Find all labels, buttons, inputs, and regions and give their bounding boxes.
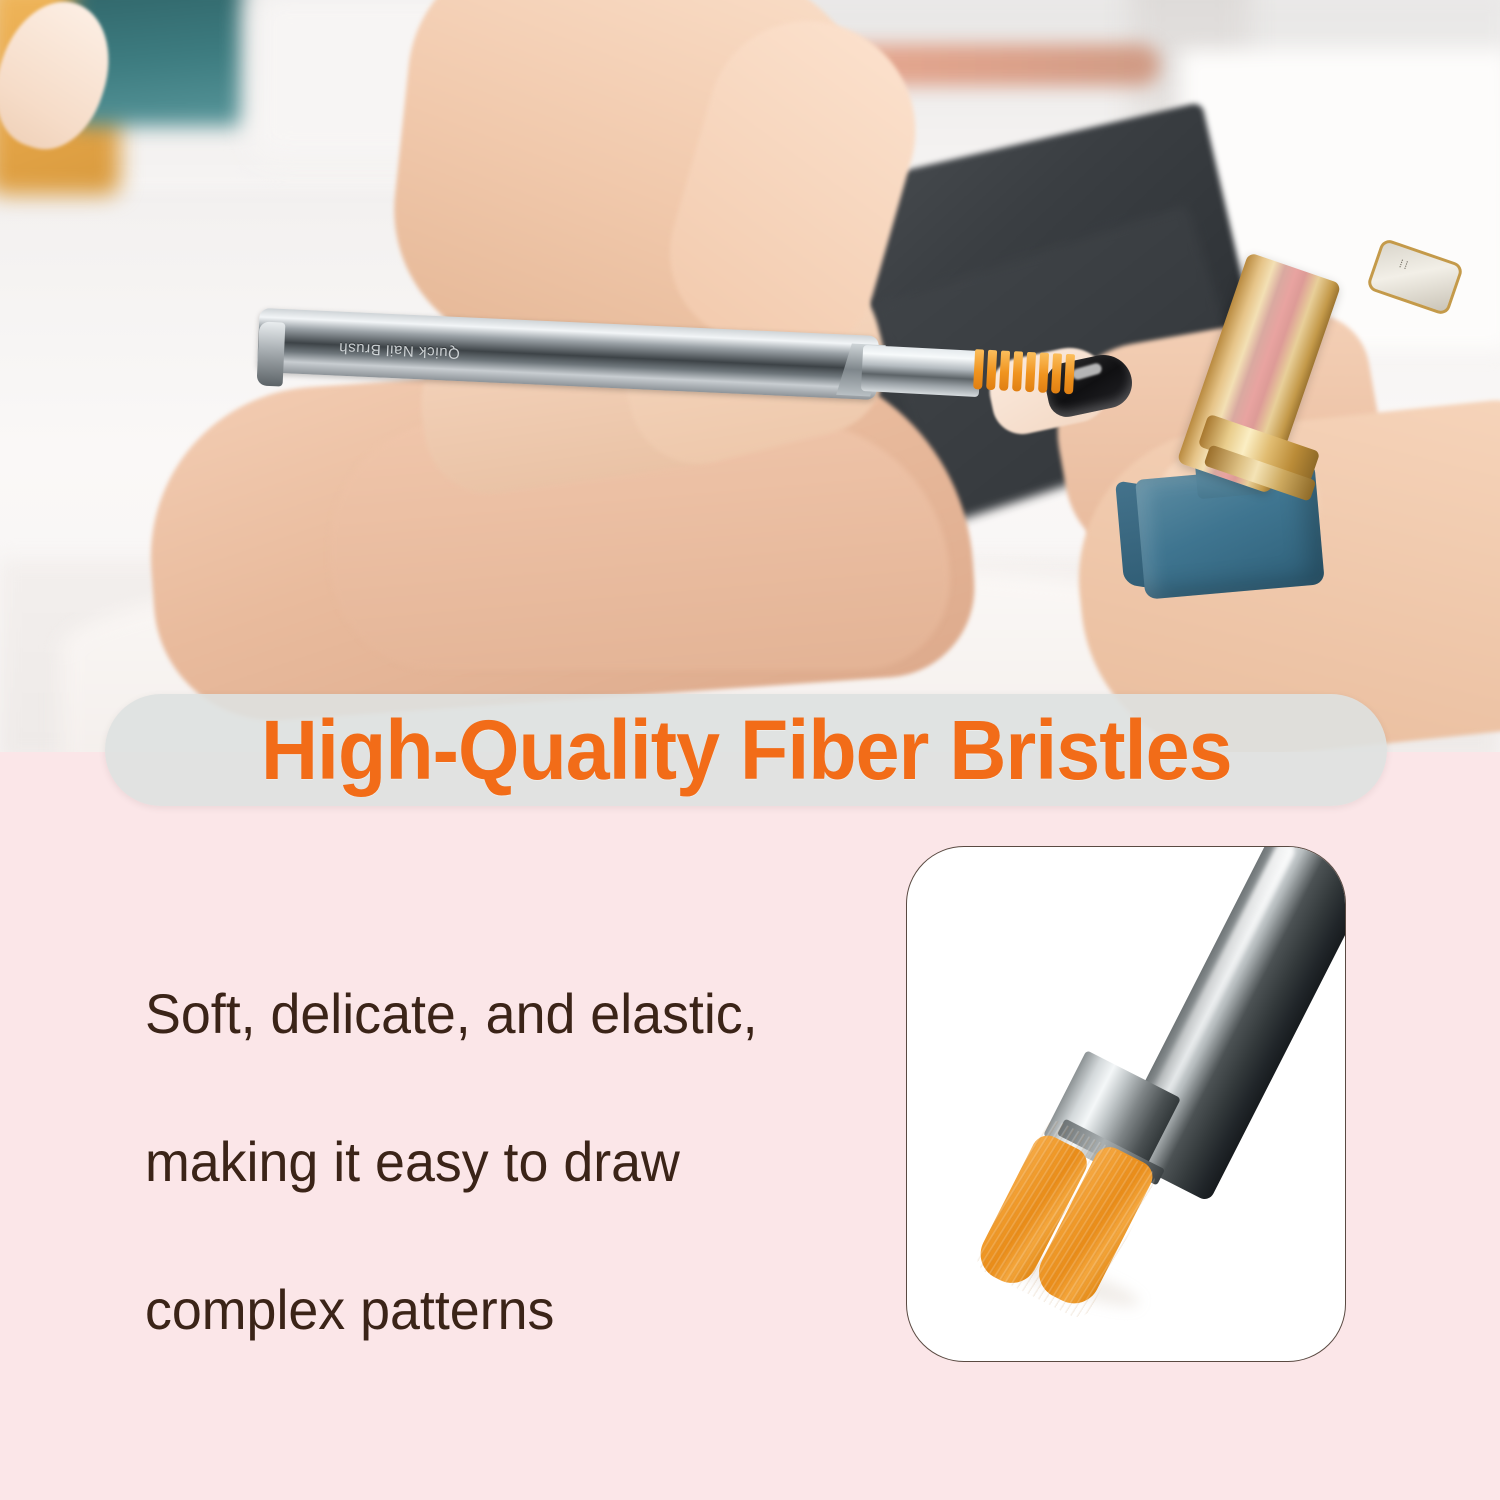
description-line-3: complex patterns <box>145 1236 846 1384</box>
description-line-2: making it easy to draw <box>145 1088 846 1236</box>
headline-text: High-Quality Fiber Bristles <box>261 708 1232 792</box>
brush-closeup-card <box>906 846 1346 1362</box>
feature-description: Soft, delicate, and elastic, making it e… <box>145 940 875 1384</box>
orange-comb-bristles <box>973 349 1085 397</box>
brush-ferrule <box>861 345 981 397</box>
hero-photo: Quick Nail Brush ⁞⁞ <box>0 0 1500 752</box>
brush-closeup-photo <box>907 847 1345 1361</box>
nail-brush-end-cap <box>257 321 286 386</box>
description-line-1: Soft, delicate, and elastic, <box>145 940 846 1088</box>
product-feature-image: Quick Nail Brush ⁞⁞ High-Quality Fiber B… <box>0 0 1500 1500</box>
headline-banner: High-Quality Fiber Bristles <box>105 694 1387 806</box>
